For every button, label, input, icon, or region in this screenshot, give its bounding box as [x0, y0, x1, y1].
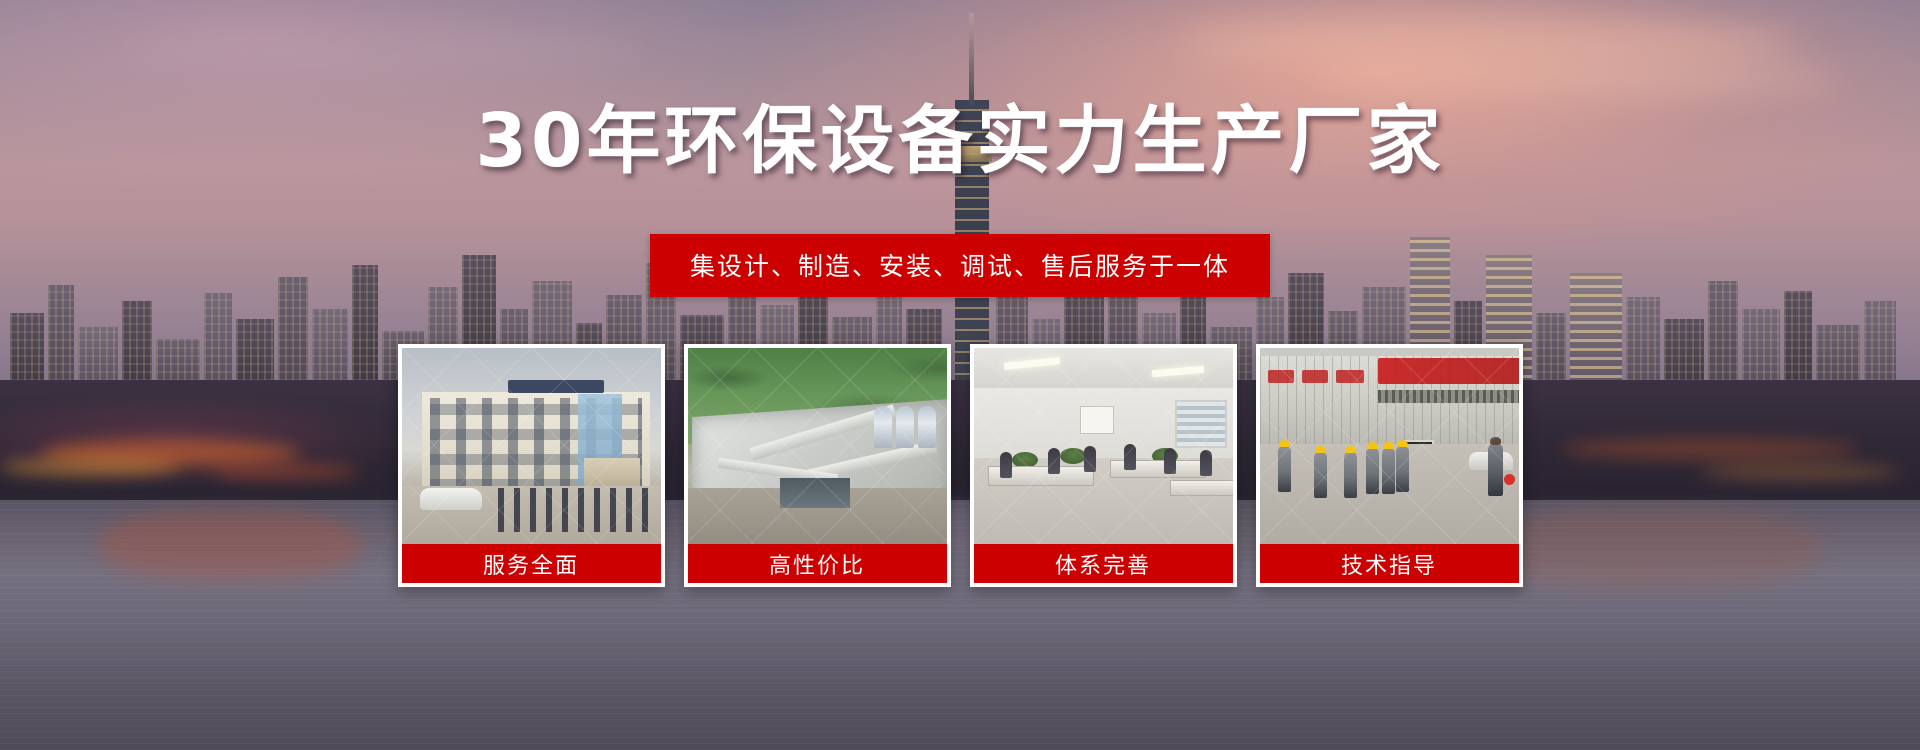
- storage-silo: [918, 406, 936, 448]
- building-signage: [508, 380, 604, 393]
- card-photo-office-interior: [970, 344, 1237, 544]
- worker-hardhat: [1366, 448, 1379, 494]
- banner-subtitle-wrapper: 集设计、制造、安装、调试、售后服务于一体: [0, 234, 1920, 297]
- feature-card[interactable]: 高性价比: [684, 344, 951, 587]
- hero-banner: 30年环保设备实力生产厂家 集设计、制造、安装、调试、售后服务于一体 服务全面: [0, 0, 1920, 750]
- worker-hardhat: [1396, 446, 1409, 492]
- office-window-blinds: [1175, 400, 1227, 448]
- card-photo-industrial-plant: [684, 344, 951, 544]
- office-plant: [1060, 448, 1086, 464]
- wall-slogan: [1336, 370, 1364, 383]
- office-worker: [1200, 450, 1212, 476]
- card-label: 体系完善: [970, 544, 1237, 587]
- feature-card-list: 服务全面 高性价比: [0, 344, 1920, 587]
- supervisor: [1488, 444, 1503, 496]
- office-worker: [1124, 444, 1136, 470]
- feature-card[interactable]: 技术指导: [1256, 344, 1523, 587]
- card-photo-office-building: [398, 344, 665, 544]
- office-worker: [1084, 446, 1096, 472]
- feature-card[interactable]: 体系完善: [970, 344, 1237, 587]
- worker-hardhat: [1314, 452, 1327, 498]
- wall-slogan: [1302, 370, 1328, 383]
- worker-hardhat: [1344, 452, 1357, 498]
- worker-hardhat: [1278, 446, 1291, 492]
- banner-headline: 30年环保设备实力生产厂家: [0, 104, 1920, 178]
- card-label: 技术指导: [1256, 544, 1523, 587]
- office-worker: [1164, 448, 1176, 474]
- card-label: 服务全面: [398, 544, 665, 587]
- wall-poster: [1080, 406, 1114, 434]
- parked-car: [420, 488, 482, 510]
- factory-banner-signage: [1378, 358, 1520, 384]
- red-helmet: [1504, 474, 1515, 485]
- wall-slogan: [1268, 370, 1294, 383]
- feature-card[interactable]: 服务全面: [398, 344, 665, 587]
- storage-silo: [896, 406, 914, 448]
- card-photo-factory-yard: [1256, 344, 1523, 544]
- card-label: 高性价比: [684, 544, 951, 587]
- banner-content: 30年环保设备实力生产厂家 集设计、制造、安装、调试、售后服务于一体 服务全面: [0, 0, 1920, 750]
- office-desk: [1170, 480, 1236, 496]
- staff-lineup: [498, 488, 658, 532]
- wall-louver: [1378, 390, 1520, 403]
- storage-silo: [874, 406, 892, 448]
- worker-hardhat: [1382, 448, 1395, 494]
- office-worker: [1048, 448, 1060, 474]
- banner-subtitle: 集设计、制造、安装、调试、售后服务于一体: [650, 234, 1270, 297]
- office-worker: [1000, 452, 1012, 478]
- plant-shed: [780, 478, 850, 508]
